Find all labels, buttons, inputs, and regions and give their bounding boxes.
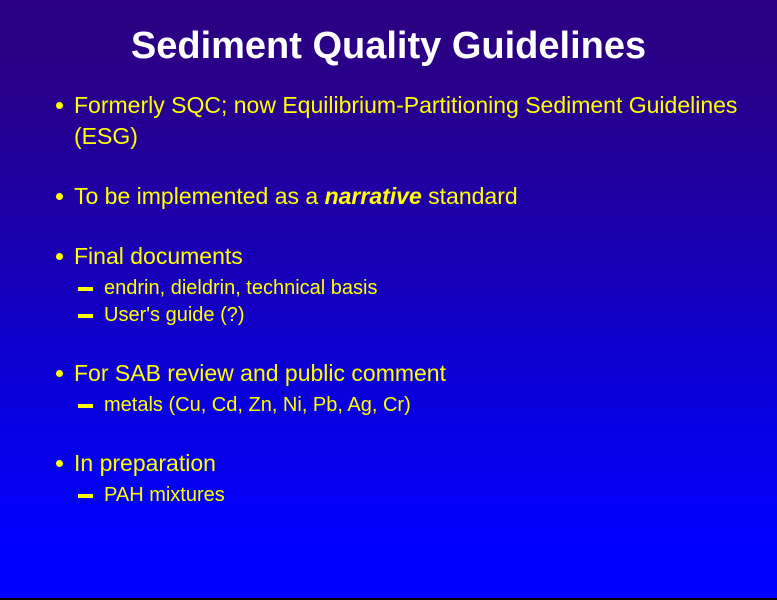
bullet-text: Final documents [74,241,748,272]
sub-bullet-item: PAH mixtures [48,482,748,509]
presentation-slide: Sediment Quality Guidelines Formerly SQC… [0,0,777,600]
bullet-text-suffix: standard [422,183,518,209]
spacer [48,419,748,448]
bullet-item: To be implemented as a narrative standar… [48,181,748,212]
sub-bullet-item: metals (Cu, Cd, Zn, Ni, Pb, Ag, Cr) [48,392,748,419]
bullet-item: In preparation [48,448,748,479]
bullet-text-prefix: To be implemented as a [74,183,325,209]
slide-title: Sediment Quality Guidelines [0,24,777,68]
bullet-dot-icon [56,460,63,467]
bullet-item: For SAB review and public comment [48,358,748,389]
sub-bullet-text: PAH mixtures [104,482,748,509]
bullet-item: Formerly SQC; now Equilibrium-Partitioni… [48,90,748,152]
spacer [48,329,748,358]
sub-bullet-text: User's guide (?) [104,302,748,329]
bullet-text: To be implemented as a narrative standar… [74,181,748,212]
sub-bullet-item: User's guide (?) [48,302,748,329]
bullet-dash-icon [78,287,93,291]
bullet-dash-icon [78,494,93,498]
bullet-dot-icon [56,102,63,109]
bullet-text-emphasis: narrative [325,183,422,209]
bullet-dot-icon [56,370,63,377]
slide-body: Formerly SQC; now Equilibrium-Partitioni… [48,90,748,509]
sub-bullet-text: endrin, dieldrin, technical basis [104,275,748,302]
bullet-text: Formerly SQC; now Equilibrium-Partitioni… [74,90,748,152]
sub-bullet-item: endrin, dieldrin, technical basis [48,275,748,302]
bullet-dot-icon [56,253,63,260]
bullet-text: For SAB review and public comment [74,358,748,389]
spacer [48,152,748,181]
bullet-item: Final documents [48,241,748,272]
spacer [48,212,748,241]
bullet-text: In preparation [74,448,748,479]
sub-bullet-text: metals (Cu, Cd, Zn, Ni, Pb, Ag, Cr) [104,392,748,419]
bullet-dash-icon [78,314,93,318]
bullet-dot-icon [56,193,63,200]
bullet-dash-icon [78,404,93,408]
